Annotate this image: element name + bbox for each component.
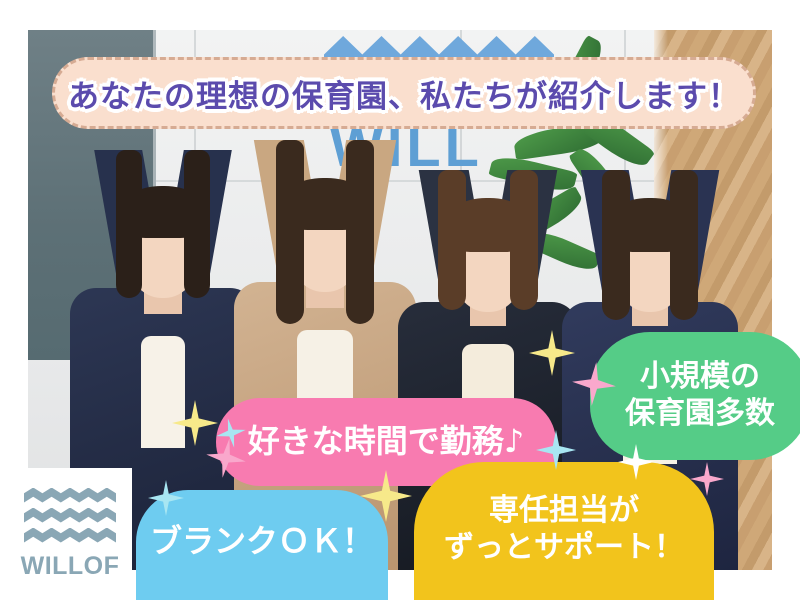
staff-2-hair xyxy=(346,140,374,324)
staff-3-hair xyxy=(510,170,538,310)
logo-zigzag-row xyxy=(24,488,116,503)
staff-4-hair xyxy=(670,170,698,320)
bubble-dedicated-support: 専任担当が ずっとサポート！ xyxy=(414,462,714,600)
logo-zigzag-row xyxy=(24,528,116,543)
banner-canvas: WILL xyxy=(0,0,800,600)
bubble-dedicated-support-line-1: 専任担当が xyxy=(489,493,639,530)
bubble-small-nurseries-line-1: 小規模の xyxy=(640,359,760,396)
bubble-small-nurseries-line-2: 保育園多数 xyxy=(625,396,775,433)
willof-logo: WILLOF xyxy=(8,468,132,592)
bubble-flexible-hours-line-1: 好きな時間で勤務♪ xyxy=(248,422,524,461)
bubble-blank-ok: ブランクＯＫ！ xyxy=(136,490,388,600)
logo-wordmark: WILLOF xyxy=(21,552,120,581)
bubble-blank-ok-line-1: ブランクＯＫ！ xyxy=(150,522,374,561)
staff-1-blouse xyxy=(141,336,185,448)
headline-banner: あなたの理想の保育園、私たちが紹介します！ xyxy=(52,57,756,129)
staff-4-hair xyxy=(602,170,630,320)
logo-zigzag-row xyxy=(24,508,116,523)
staff-3-hair xyxy=(438,170,466,310)
bubble-dedicated-support-line-2: ずっとサポート！ xyxy=(444,530,684,567)
staff-1-hair xyxy=(116,150,142,298)
staff-2-hair xyxy=(276,140,304,324)
bubble-small-nurseries: 小規模の 保育園多数 xyxy=(590,332,800,460)
staff-1-hair xyxy=(184,150,210,298)
headline-text: あなたの理想の保育園、私たちが紹介します！ xyxy=(68,71,740,116)
